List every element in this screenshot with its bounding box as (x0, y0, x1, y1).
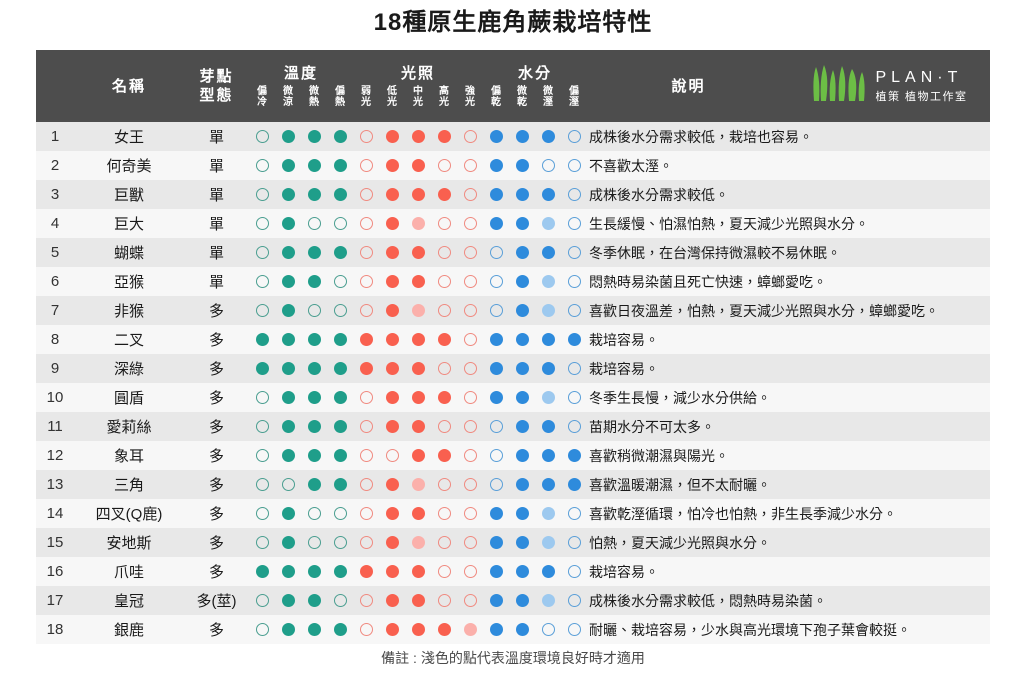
light-dot-3-empty (438, 362, 451, 375)
light-dot-2-full (412, 420, 425, 433)
light-dot-1-full (386, 507, 399, 520)
temperature-dot-group (249, 420, 353, 433)
light-dot-0-empty (360, 478, 373, 491)
light-dot-group (353, 130, 483, 143)
sub-label-light-0: 弱光 (353, 86, 379, 108)
brand-subtitle: 植策 植物工作室 (875, 92, 967, 103)
temperature-dot-2-full (308, 623, 321, 636)
water-dot-1-full (516, 420, 529, 433)
row-index: 3 (36, 180, 74, 209)
water-dot-3-empty (568, 507, 581, 520)
row-temperature-dots (249, 470, 353, 499)
light-dot-2-full (412, 246, 425, 259)
temperature-dot-group (249, 333, 353, 346)
row-water-dots (483, 383, 587, 412)
light-dot-4-empty (464, 333, 477, 346)
light-dot-group (353, 449, 483, 462)
row-temperature-dots (249, 151, 353, 180)
row-index: 14 (36, 499, 74, 528)
row-temperature-dots (249, 441, 353, 470)
light-dot-group (353, 391, 483, 404)
light-dot-2-full (412, 391, 425, 404)
water-dot-3-empty (568, 565, 581, 578)
light-dot-3-full (438, 623, 451, 636)
light-dot-group (353, 420, 483, 433)
light-dot-1-full (386, 188, 399, 201)
water-dot-2-empty (542, 159, 555, 172)
temperature-dot-3-full (334, 623, 347, 636)
row-temperature-dots (249, 267, 353, 296)
row-water-dots (483, 238, 587, 267)
table-row: 16爪哇多栽培容易。 (36, 557, 990, 586)
row-description: 不喜歡太溼。 (587, 151, 990, 180)
water-dot-group (483, 565, 587, 578)
plant-leaf-logo-icon (812, 65, 866, 108)
row-index: 1 (36, 122, 74, 151)
row-water-dots (483, 296, 587, 325)
header-temperature-subs: 偏冷 微涼 微熱 偏熱 (249, 86, 353, 108)
water-dot-1-full (516, 246, 529, 259)
row-index: 2 (36, 151, 74, 180)
row-name: 非猴 (74, 296, 184, 325)
light-dot-0-full (360, 333, 373, 346)
light-dot-0-empty (360, 304, 373, 317)
row-description: 冬季休眠，在台灣保持微濕較不易休眠。 (587, 238, 990, 267)
temperature-dot-0-empty (256, 246, 269, 259)
water-dot-group (483, 275, 587, 288)
temperature-dot-group (249, 449, 353, 462)
row-index: 17 (36, 586, 74, 615)
water-dot-0-full (490, 159, 503, 172)
row-description: 栽培容易。 (587, 325, 990, 354)
water-dot-0-full (490, 188, 503, 201)
water-dot-1-full (516, 536, 529, 549)
water-dot-group (483, 391, 587, 404)
row-temperature-dots (249, 557, 353, 586)
light-dot-2-full (412, 362, 425, 375)
row-light-dots (353, 325, 483, 354)
light-dot-1-full (386, 594, 399, 607)
temperature-dot-2-full (308, 159, 321, 172)
temperature-dot-0-empty (256, 188, 269, 201)
row-light-dots (353, 441, 483, 470)
sub-label-light-1: 低光 (379, 86, 405, 108)
temperature-dot-3-empty (334, 594, 347, 607)
temperature-dot-group (249, 275, 353, 288)
temperature-dot-0-empty (256, 623, 269, 636)
water-dot-0-empty (490, 275, 503, 288)
row-light-dots (353, 238, 483, 267)
light-dot-4-light (464, 623, 477, 636)
header-name-cell: 名稱 (74, 50, 184, 122)
table-row: 12象耳多喜歡稍微潮濕與陽光。 (36, 441, 990, 470)
row-bud-type: 多(莖) (184, 586, 249, 615)
light-dot-1-full (386, 246, 399, 259)
light-dot-1-full (386, 565, 399, 578)
water-dot-2-full (542, 478, 555, 491)
temperature-dot-group (249, 188, 353, 201)
light-dot-3-empty (438, 159, 451, 172)
light-dot-0-empty (360, 391, 373, 404)
table-row: 13三角多喜歡溫暖潮濕，但不太耐曬。 (36, 470, 990, 499)
water-dot-3-full (568, 333, 581, 346)
water-dot-group (483, 536, 587, 549)
temperature-dot-group (249, 304, 353, 317)
water-dot-group (483, 507, 587, 520)
temperature-dot-0-empty (256, 420, 269, 433)
row-index: 6 (36, 267, 74, 296)
header-temperature-cell: 溫度 偏冷 微涼 微熱 (249, 50, 353, 122)
light-dot-4-empty (464, 536, 477, 549)
light-dot-1-full (386, 304, 399, 317)
light-dot-2-light (412, 217, 425, 230)
header-bud-cell: 芽點 型態 (184, 50, 249, 122)
water-dot-2-empty (542, 623, 555, 636)
row-light-dots (353, 151, 483, 180)
cultivation-spec-table: 名稱 芽點 型態 溫度 (36, 50, 990, 644)
table-row: 2何奇美單不喜歡太溼。 (36, 151, 990, 180)
table-row: 1女王單成株後水分需求較低，栽培也容易。 (36, 122, 990, 151)
row-bud-type: 多 (184, 470, 249, 499)
row-temperature-dots (249, 354, 353, 383)
temperature-dot-0-empty (256, 478, 269, 491)
light-dot-4-empty (464, 130, 477, 143)
temperature-dot-2-full (308, 565, 321, 578)
water-dot-0-full (490, 130, 503, 143)
row-bud-type: 單 (184, 180, 249, 209)
table-row: 7非猴多喜歡日夜溫差，怕熱，夏天減少光照與水分，蟑螂愛吃。 (36, 296, 990, 325)
temperature-dot-3-full (334, 391, 347, 404)
light-dot-group (353, 159, 483, 172)
temperature-dot-1-full (282, 275, 295, 288)
light-dot-4-empty (464, 275, 477, 288)
row-bud-type: 多 (184, 383, 249, 412)
water-dot-3-empty (568, 217, 581, 230)
water-dot-group (483, 159, 587, 172)
water-dot-group (483, 420, 587, 433)
light-dot-3-empty (438, 507, 451, 520)
temperature-dot-1-full (282, 188, 295, 201)
water-dot-1-full (516, 275, 529, 288)
light-dot-0-empty (360, 246, 373, 259)
row-water-dots (483, 209, 587, 238)
row-description: 悶熱時易染菌且死亡快速，蟑螂愛吃。 (587, 267, 990, 296)
table-row: 6亞猴單悶熱時易染菌且死亡快速，蟑螂愛吃。 (36, 267, 990, 296)
row-description: 喜歡日夜溫差，怕熱，夏天減少光照與水分，蟑螂愛吃。 (587, 296, 990, 325)
temperature-dot-1-full (282, 623, 295, 636)
temperature-dot-3-empty (334, 304, 347, 317)
water-dot-0-full (490, 391, 503, 404)
light-dot-group (353, 362, 483, 375)
row-temperature-dots (249, 499, 353, 528)
water-dot-2-full (542, 565, 555, 578)
temperature-dot-1-empty (282, 478, 295, 491)
temperature-dot-group (249, 536, 353, 549)
row-name: 深綠 (74, 354, 184, 383)
temperature-dot-1-full (282, 217, 295, 230)
water-dot-0-full (490, 594, 503, 607)
row-light-dots (353, 412, 483, 441)
water-dot-0-full (490, 565, 503, 578)
temperature-dot-group (249, 623, 353, 636)
row-index: 7 (36, 296, 74, 325)
row-light-dots (353, 209, 483, 238)
row-water-dots (483, 441, 587, 470)
light-dot-4-empty (464, 304, 477, 317)
light-dot-1-full (386, 362, 399, 375)
row-index: 4 (36, 209, 74, 238)
light-dot-3-empty (438, 217, 451, 230)
row-bud-type: 多 (184, 441, 249, 470)
table-row: 11愛莉絲多苗期水分不可太多。 (36, 412, 990, 441)
light-dot-2-full (412, 565, 425, 578)
water-dot-3-empty (568, 304, 581, 317)
water-dot-1-full (516, 391, 529, 404)
row-name: 二叉 (74, 325, 184, 354)
row-index: 10 (36, 383, 74, 412)
row-bud-type: 單 (184, 122, 249, 151)
header-water-cell: 水分 偏乾 微乾 微溼 (483, 50, 587, 122)
row-light-dots (353, 354, 483, 383)
temperature-dot-0-empty (256, 594, 269, 607)
light-dot-2-full (412, 333, 425, 346)
light-dot-group (353, 275, 483, 288)
light-dot-4-empty (464, 391, 477, 404)
water-dot-1-full (516, 565, 529, 578)
light-dot-3-empty (438, 536, 451, 549)
row-bud-type: 多 (184, 412, 249, 441)
light-dot-0-empty (360, 217, 373, 230)
row-water-dots (483, 586, 587, 615)
header-logo-cell: PLAN·T 植策 植物工作室 (790, 50, 990, 122)
table-body: 1女王單成株後水分需求較低，栽培也容易。2何奇美單不喜歡太溼。3巨獸單成株後水分… (36, 122, 990, 644)
water-dot-0-full (490, 362, 503, 375)
row-name: 安地斯 (74, 528, 184, 557)
water-dot-1-full (516, 478, 529, 491)
spec-table-container: 名稱 芽點 型態 溫度 (36, 50, 990, 644)
light-dot-group (353, 217, 483, 230)
water-dot-0-empty (490, 420, 503, 433)
table-header: 名稱 芽點 型態 溫度 (36, 50, 990, 122)
light-dot-0-empty (360, 536, 373, 549)
temperature-dot-0-empty (256, 217, 269, 230)
temperature-dot-1-full (282, 246, 295, 259)
light-dot-4-empty (464, 159, 477, 172)
temperature-dot-3-full (334, 478, 347, 491)
header-bud-label-line1: 芽點 (199, 68, 233, 85)
water-dot-2-full (542, 130, 555, 143)
water-dot-3-empty (568, 159, 581, 172)
row-water-dots (483, 325, 587, 354)
row-index: 16 (36, 557, 74, 586)
temperature-dot-3-full (334, 159, 347, 172)
light-dot-3-empty (438, 565, 451, 578)
temperature-dot-1-full (282, 594, 295, 607)
row-water-dots (483, 267, 587, 296)
row-water-dots (483, 615, 587, 644)
row-light-dots (353, 267, 483, 296)
row-light-dots (353, 528, 483, 557)
temperature-dot-2-empty (308, 217, 321, 230)
sub-label-temp-1: 微涼 (275, 86, 301, 108)
brand-text: PLAN·T 植策 植物工作室 (875, 70, 967, 103)
water-dot-2-full (542, 362, 555, 375)
sub-label-light-2: 中光 (405, 86, 431, 108)
row-bud-type: 多 (184, 615, 249, 644)
temperature-dot-0-empty (256, 536, 269, 549)
temperature-dot-3-full (334, 246, 347, 259)
temperature-dot-group (249, 478, 353, 491)
header-name-label: 名稱 (112, 77, 146, 96)
water-dot-3-empty (568, 188, 581, 201)
table-row: 5蝴蝶單冬季休眠，在台灣保持微濕較不易休眠。 (36, 238, 990, 267)
row-light-dots (353, 383, 483, 412)
temperature-dot-group (249, 362, 353, 375)
water-dot-group (483, 246, 587, 259)
row-name: 女王 (74, 122, 184, 151)
water-dot-3-empty (568, 130, 581, 143)
water-dot-0-full (490, 623, 503, 636)
header-light-title: 光照 (401, 65, 435, 83)
row-light-dots (353, 557, 483, 586)
row-water-dots (483, 122, 587, 151)
light-dot-0-empty (360, 130, 373, 143)
water-dot-3-empty (568, 391, 581, 404)
temperature-dot-1-full (282, 362, 295, 375)
row-bud-type: 多 (184, 325, 249, 354)
row-index: 9 (36, 354, 74, 383)
light-dot-3-empty (438, 594, 451, 607)
row-bud-type: 多 (184, 528, 249, 557)
water-dot-2-light (542, 594, 555, 607)
row-name: 亞猴 (74, 267, 184, 296)
light-dot-4-empty (464, 449, 477, 462)
water-dot-group (483, 623, 587, 636)
sub-label-temp-3: 偏熱 (327, 86, 353, 108)
header-temperature-title: 溫度 (284, 65, 318, 83)
light-dot-3-full (438, 130, 451, 143)
light-dot-1-full (386, 391, 399, 404)
sub-label-water-3: 偏溼 (561, 86, 587, 108)
temperature-dot-2-empty (308, 536, 321, 549)
water-dot-group (483, 478, 587, 491)
row-water-dots (483, 528, 587, 557)
temperature-dot-0-empty (256, 391, 269, 404)
light-dot-group (353, 188, 483, 201)
sub-label-light-4: 強光 (457, 86, 483, 108)
light-dot-2-full (412, 130, 425, 143)
light-dot-group (353, 507, 483, 520)
row-bud-type: 單 (184, 238, 249, 267)
light-dot-2-full (412, 188, 425, 201)
row-temperature-dots (249, 615, 353, 644)
temperature-dot-1-full (282, 304, 295, 317)
light-dot-3-full (438, 391, 451, 404)
table-row: 8二叉多栽培容易。 (36, 325, 990, 354)
water-dot-group (483, 217, 587, 230)
row-temperature-dots (249, 528, 353, 557)
temperature-dot-2-full (308, 275, 321, 288)
water-dot-2-full (542, 449, 555, 462)
water-dot-0-empty (490, 304, 503, 317)
row-temperature-dots (249, 296, 353, 325)
temperature-dot-1-full (282, 130, 295, 143)
water-dot-group (483, 362, 587, 375)
temperature-dot-3-empty (334, 507, 347, 520)
infographic-page: 18種原生鹿角蕨栽培特性 (0, 0, 1026, 681)
light-dot-0-empty (360, 623, 373, 636)
light-dot-3-empty (438, 478, 451, 491)
light-dot-group (353, 478, 483, 491)
temperature-dot-group (249, 565, 353, 578)
water-dot-3-empty (568, 420, 581, 433)
light-dot-0-full (360, 565, 373, 578)
water-dot-0-empty (490, 246, 503, 259)
light-dot-4-empty (464, 362, 477, 375)
water-dot-1-full (516, 507, 529, 520)
water-dot-0-empty (490, 478, 503, 491)
temperature-dot-0-full (256, 565, 269, 578)
water-dot-group (483, 130, 587, 143)
water-dot-group (483, 333, 587, 346)
header-bud-label-line2: 型態 (199, 87, 233, 104)
light-dot-1-full (386, 217, 399, 230)
temperature-dot-3-full (334, 565, 347, 578)
temperature-dot-1-full (282, 420, 295, 433)
water-dot-2-light (542, 304, 555, 317)
row-temperature-dots (249, 586, 353, 615)
temperature-dot-3-full (334, 449, 347, 462)
water-dot-2-light (542, 275, 555, 288)
row-bud-type: 單 (184, 209, 249, 238)
row-light-dots (353, 180, 483, 209)
sub-label-temp-0: 偏冷 (249, 86, 275, 108)
row-temperature-dots (249, 325, 353, 354)
light-dot-2-full (412, 449, 425, 462)
row-light-dots (353, 615, 483, 644)
row-name: 蝴蝶 (74, 238, 184, 267)
page-title: 18種原生鹿角蕨栽培特性 (0, 0, 1026, 44)
row-index: 12 (36, 441, 74, 470)
light-dot-2-full (412, 275, 425, 288)
light-dot-3-empty (438, 275, 451, 288)
temperature-dot-2-full (308, 130, 321, 143)
header-row: 名稱 芽點 型態 溫度 (36, 50, 990, 122)
temperature-dot-2-full (308, 449, 321, 462)
water-dot-1-full (516, 449, 529, 462)
row-index: 5 (36, 238, 74, 267)
row-description: 怕熱，夏天減少光照與水分。 (587, 528, 990, 557)
water-dot-0-empty (490, 449, 503, 462)
temperature-dot-group (249, 246, 353, 259)
light-dot-0-empty (360, 449, 373, 462)
temperature-dot-0-full (256, 333, 269, 346)
row-bud-type: 單 (184, 267, 249, 296)
temperature-dot-1-full (282, 159, 295, 172)
sub-label-light-3: 高光 (431, 86, 457, 108)
row-bud-type: 多 (184, 354, 249, 383)
water-dot-1-full (516, 188, 529, 201)
light-dot-2-full (412, 594, 425, 607)
water-dot-1-full (516, 362, 529, 375)
temperature-dot-group (249, 507, 353, 520)
light-dot-4-empty (464, 478, 477, 491)
temperature-dot-group (249, 594, 353, 607)
row-index: 13 (36, 470, 74, 499)
light-dot-4-empty (464, 565, 477, 578)
row-name: 圓盾 (74, 383, 184, 412)
light-dot-3-empty (438, 246, 451, 259)
